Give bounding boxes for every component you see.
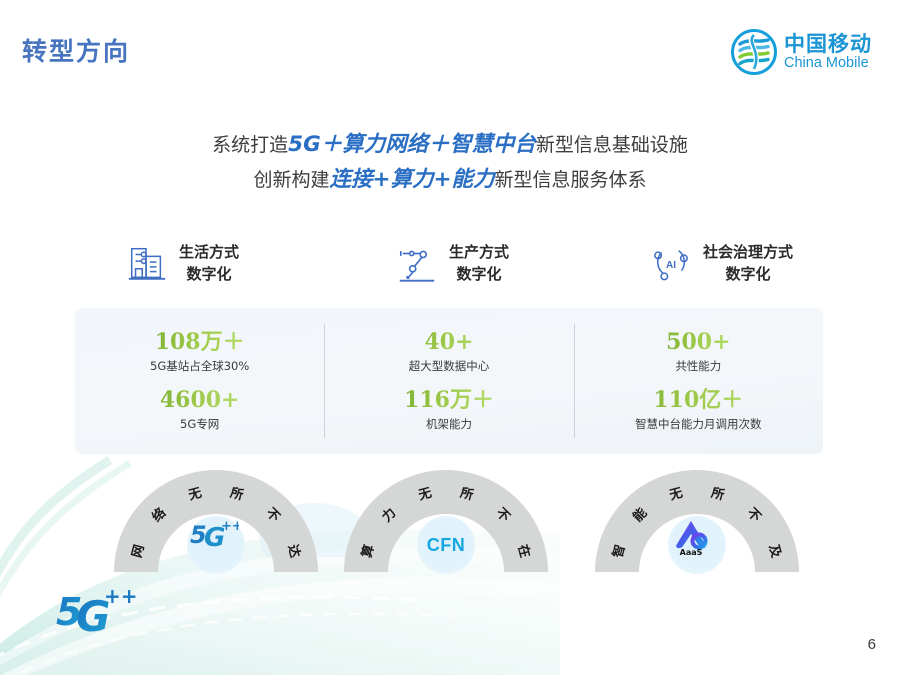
- headline-plain: 新型信息服务体系: [495, 169, 647, 191]
- arc-char: 不: [744, 506, 764, 526]
- page-number: 6: [868, 636, 876, 653]
- column-header-life: 生活方式 数字化: [126, 242, 239, 286]
- arc-char: 力: [379, 505, 400, 526]
- aaas-logo: AaaS: [668, 516, 714, 556]
- 5g-plus-plus-mark: 5 G ++: [55, 583, 147, 637]
- headline-emphasis: +: [434, 167, 452, 192]
- column-title-line1: 社会治理方式: [703, 242, 793, 264]
- headline-plain: 新型信息基础设施: [536, 134, 688, 156]
- logo-name-en: China Mobile: [784, 56, 872, 71]
- stat-value: 4600+: [160, 388, 240, 414]
- smart-building-icon: [126, 243, 168, 285]
- stat-value: 108万＋: [150, 330, 249, 356]
- headline-line-1: 系统打造5G＋算力网络＋智慧中台新型信息基础设施: [0, 128, 900, 163]
- arc-char: 网: [130, 543, 148, 559]
- arc-char: 无: [667, 486, 684, 504]
- arc-unit-computing: 算力无所不在 CFN: [334, 456, 558, 576]
- stat-item: 110亿＋ 智慧中台能力月调用次数: [635, 388, 762, 432]
- svg-text:++: ++: [221, 519, 239, 534]
- 5g-plus-plus-logo: 5 G ++: [187, 516, 239, 550]
- arc-char: 无: [186, 486, 203, 504]
- robot-arm-icon: [396, 243, 438, 285]
- arc-core-cfn: CFN: [417, 516, 475, 574]
- stat-value: 116万＋: [404, 388, 494, 414]
- stat-item: 4600+ 5G专网: [160, 388, 240, 432]
- headline-block: 系统打造5G＋算力网络＋智慧中台新型信息基础设施 创新构建连接+算力+能力新型信…: [0, 128, 900, 198]
- stat-label: 5G基站占全球30%: [150, 358, 249, 374]
- arc-char: 络: [149, 505, 170, 526]
- slide-canvas: 转型方向 中国移动 China Mobile 系统打造5G＋算力网络＋智慧中台新…: [0, 0, 900, 675]
- stat-column-governance: 500+ 共性能力 110亿＋ 智慧中台能力月调用次数: [574, 308, 823, 454]
- headline-emphasis: 算力: [390, 167, 433, 192]
- stat-column-production: 40+ 超大型数据中心 116万＋ 机架能力: [324, 308, 573, 454]
- ai-network-icon: AI: [650, 243, 692, 285]
- column-headers: 生活方式 数字化 生产方式: [0, 238, 900, 300]
- arc-char: 所: [228, 485, 245, 504]
- headline-emphasis: ＋: [321, 132, 343, 157]
- svg-text:AI: AI: [666, 260, 676, 271]
- column-title-line2: 数字化: [449, 264, 509, 286]
- column-title-line1: 生活方式: [179, 242, 239, 264]
- logo-name-cn: 中国移动: [784, 34, 872, 55]
- stat-value: 40+: [409, 330, 490, 356]
- column-header-production: 生产方式 数字化: [396, 242, 509, 286]
- headline-emphasis: 能力: [452, 167, 495, 192]
- arc-core-5g: 5 G ++: [187, 516, 245, 574]
- headline-emphasis: 算力网络: [342, 132, 428, 157]
- arc-char: 所: [458, 485, 475, 504]
- china-mobile-logo: 中国移动 China Mobile: [731, 29, 872, 75]
- svg-text:++: ++: [104, 584, 138, 608]
- headline-plain: 系统打造: [212, 134, 288, 156]
- headline-emphasis: 连接: [329, 167, 372, 192]
- headline-line-2: 创新构建连接+算力+能力新型信息服务体系: [0, 163, 900, 198]
- headline-plain: 创新构建: [253, 169, 329, 191]
- stat-label: 超大型数据中心: [409, 358, 490, 374]
- stat-label: 共性能力: [666, 358, 730, 374]
- stat-label: 5G专网: [160, 416, 240, 432]
- arc-char: 能: [630, 505, 651, 526]
- page-title: 转型方向: [22, 32, 130, 68]
- statistics-panel: 108万＋ 5G基站占全球30% 4600+ 5G专网 40+ 超大型数据中心 …: [75, 308, 823, 454]
- headline-emphasis: 智慧中台: [450, 132, 536, 157]
- arc-unit-network: 网络无所不达 5 G ++: [104, 456, 328, 576]
- headline-emphasis: ＋: [428, 132, 450, 157]
- arc-char: 及: [765, 543, 783, 560]
- stat-item: 108万＋ 5G基站占全球30%: [150, 330, 249, 374]
- cfn-logo-text: CFN: [427, 535, 466, 556]
- arc-char: 所: [709, 485, 726, 504]
- arc-unit-intelligence: 智能无所不及 AaaS: [585, 456, 809, 576]
- stat-value: 500+: [666, 330, 730, 356]
- arc-char: 在: [514, 543, 533, 560]
- arc-char: 不: [493, 506, 513, 526]
- svg-text:AaaS: AaaS: [680, 548, 703, 556]
- statistics-grid: 108万＋ 5G基站占全球30% 4600+ 5G专网 40+ 超大型数据中心 …: [75, 308, 823, 454]
- headline-emphasis: 5G: [288, 132, 321, 157]
- column-title-line2: 数字化: [703, 264, 793, 286]
- arc-char: 无: [416, 486, 433, 504]
- stat-label: 机架能力: [404, 416, 494, 432]
- stat-item: 40+ 超大型数据中心: [409, 330, 490, 374]
- arc-char: 不: [263, 506, 283, 526]
- china-mobile-swoosh-icon: [731, 29, 777, 75]
- column-title-line1: 生产方式: [449, 242, 509, 264]
- stat-item: 500+ 共性能力: [666, 330, 730, 374]
- stat-value: 110亿＋: [635, 388, 762, 414]
- column-title-line2: 数字化: [179, 264, 239, 286]
- arc-core-aaas: AaaS: [668, 516, 726, 574]
- arc-row: 网络无所不达 5 G ++ 算力无所不在 CFN: [0, 456, 900, 576]
- stat-column-life: 108万＋ 5G基站占全球30% 4600+ 5G专网: [75, 308, 324, 454]
- arc-char: 算: [359, 543, 378, 560]
- stat-label: 智慧中台能力月调用次数: [635, 416, 762, 432]
- arc-char: 达: [284, 543, 303, 560]
- arc-char: 智: [610, 543, 629, 560]
- stat-item: 116万＋ 机架能力: [404, 388, 494, 432]
- column-header-governance: AI 社会治理方式 数字化: [650, 242, 793, 286]
- headline-emphasis: +: [372, 167, 390, 192]
